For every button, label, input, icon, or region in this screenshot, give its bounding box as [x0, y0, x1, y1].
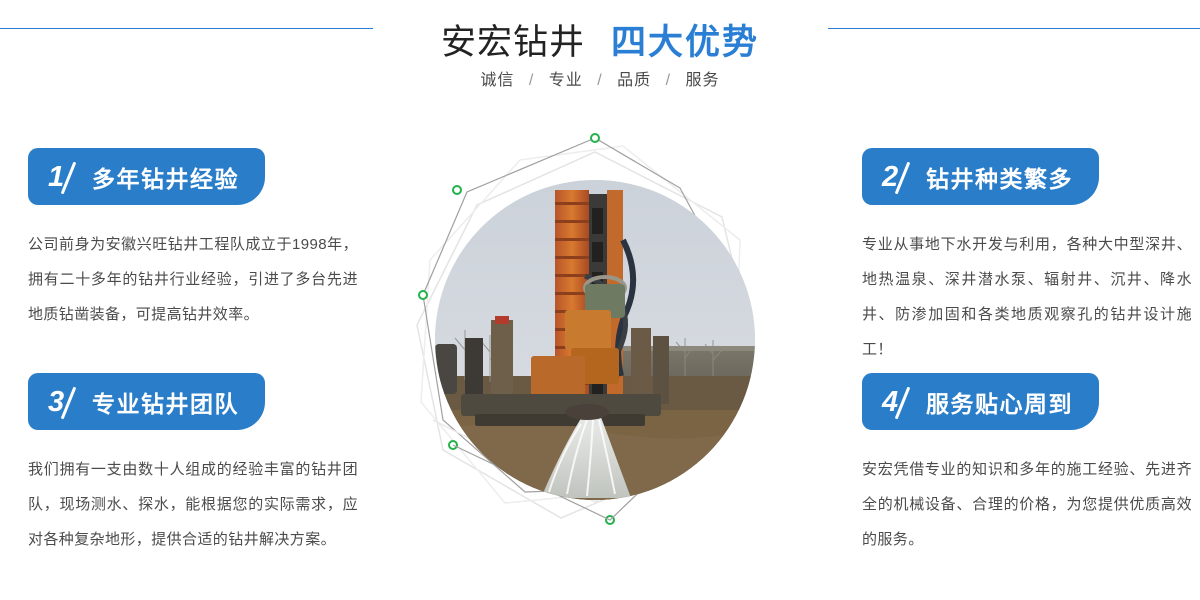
feature-body-2: 专业从事地下水开发与利用，各种大中型深井、地热温泉、深井潜水泵、辐射井、沉井、降… — [862, 227, 1192, 367]
subtitle-separator-1: / — [529, 72, 534, 89]
feature-number-2: 2 — [882, 157, 922, 197]
feature-badge-4[interactable]: 4 服务贴心周到 — [862, 373, 1099, 430]
page-title: 安宏钻井四大优势 — [0, 14, 1200, 65]
feature-badge-2[interactable]: 2 钻井种类繁多 — [862, 148, 1099, 205]
feature-number-4: 4 — [882, 382, 922, 422]
subtitle-item-3: 品质 — [617, 72, 651, 89]
promo-banner: 安宏钻井四大优势 诚信 / 专业 / 品质 / 服务 — [0, 0, 1200, 600]
feature-block-4: 4 服务贴心周到 安宏凭借专业的知识和多年的施工经验、先进齐全的机械设备、合理的… — [862, 373, 1200, 557]
feature-number-3: 3 — [48, 382, 88, 422]
subtitle-item-2: 专业 — [549, 72, 583, 89]
drilling-rig-photo — [435, 180, 755, 500]
subtitle-item-1: 诚信 — [480, 72, 514, 89]
feature-badge-1[interactable]: 1 多年钻井经验 — [28, 148, 265, 205]
feature-block-1: 1 多年钻井经验 公司前身为安徽兴旺钻井工程队成立于1998年，拥有二十多年的钻… — [28, 148, 368, 332]
subtitle-item-4: 服务 — [686, 72, 720, 89]
feature-body-1: 公司前身为安徽兴旺钻井工程队成立于1998年，拥有二十多年的钻井行业经验，引进了… — [28, 227, 358, 332]
subtitle-separator-2: / — [597, 72, 602, 89]
feature-block-3: 3 专业钻井团队 我们拥有一支由数十人组成的经验丰富的钻井团队，现场测水、探水，… — [28, 373, 368, 557]
feature-title-2: 钻井种类繁多 — [926, 160, 1073, 194]
title-highlight: 四大优势 — [611, 23, 759, 62]
subtitle-separator-3: / — [666, 72, 671, 89]
feature-body-4: 安宏凭借专业的知识和多年的施工经验、先进齐全的机械设备、合理的价格，为您提供优质… — [862, 452, 1192, 557]
feature-body-3: 我们拥有一支由数十人组成的经验丰富的钻井团队，现场测水、探水，能根据您的实际需求… — [28, 452, 358, 557]
feature-badge-3[interactable]: 3 专业钻井团队 — [28, 373, 265, 430]
subtitle: 诚信 / 专业 / 品质 / 服务 — [0, 66, 1200, 90]
feature-title-3: 专业钻井团队 — [92, 385, 239, 419]
feature-block-2: 2 钻井种类繁多 专业从事地下水开发与利用，各种大中型深井、地热温泉、深井潜水泵… — [862, 148, 1200, 367]
feature-number-1: 1 — [48, 157, 88, 197]
title-brand: 安宏钻井 — [441, 23, 585, 62]
feature-title-1: 多年钻井经验 — [92, 160, 239, 194]
feature-title-4: 服务贴心周到 — [926, 385, 1073, 419]
